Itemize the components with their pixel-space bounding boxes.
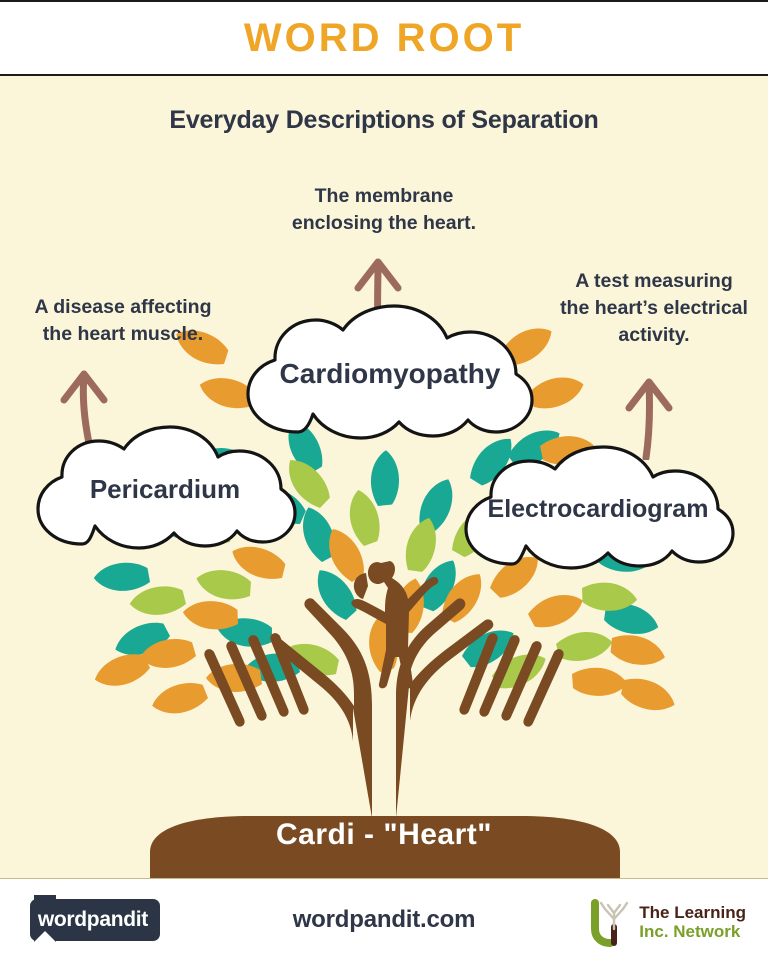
learning-inc-network-logo[interactable]: The Learning Inc. Network <box>587 897 746 947</box>
root-label: Cardi - "Heart" <box>0 818 768 852</box>
wordpandit-logo[interactable]: wordpandit <box>30 899 160 941</box>
infographic-page: WORD ROOT Everyday Descriptions of Separ… <box>0 0 768 960</box>
learning-tree-icon <box>587 897 633 947</box>
partner-line-1: The Learning <box>639 903 746 922</box>
wordpandit-logo-text: wordpandit <box>38 908 160 932</box>
cloud-shape-icon <box>448 444 748 574</box>
cloud-shape-icon <box>228 304 552 444</box>
cloud-shape-icon <box>20 424 310 554</box>
header-bar: WORD ROOT <box>0 0 768 76</box>
description-top: The membrane enclosing the heart. <box>204 183 564 237</box>
main-canvas: Everyday Descriptions of Separation <box>0 76 768 878</box>
footer-bar: wordpandit wordpandit.com The Learning <box>0 878 768 960</box>
partner-line-2: Inc. Network <box>639 922 746 941</box>
cloud-electrocardiogram[interactable]: Electrocardiogram <box>448 444 748 574</box>
learning-inc-network-text: The Learning Inc. Network <box>639 903 746 941</box>
page-title: WORD ROOT <box>244 16 524 61</box>
description-right: A test measuring the heart’s electrical … <box>520 268 768 349</box>
cloud-cardiomyopathy[interactable]: Cardiomyopathy <box>228 304 552 444</box>
description-left: A disease affecting the heart muscle. <box>0 294 254 348</box>
cloud-pericardium[interactable]: Pericardium <box>20 424 310 554</box>
